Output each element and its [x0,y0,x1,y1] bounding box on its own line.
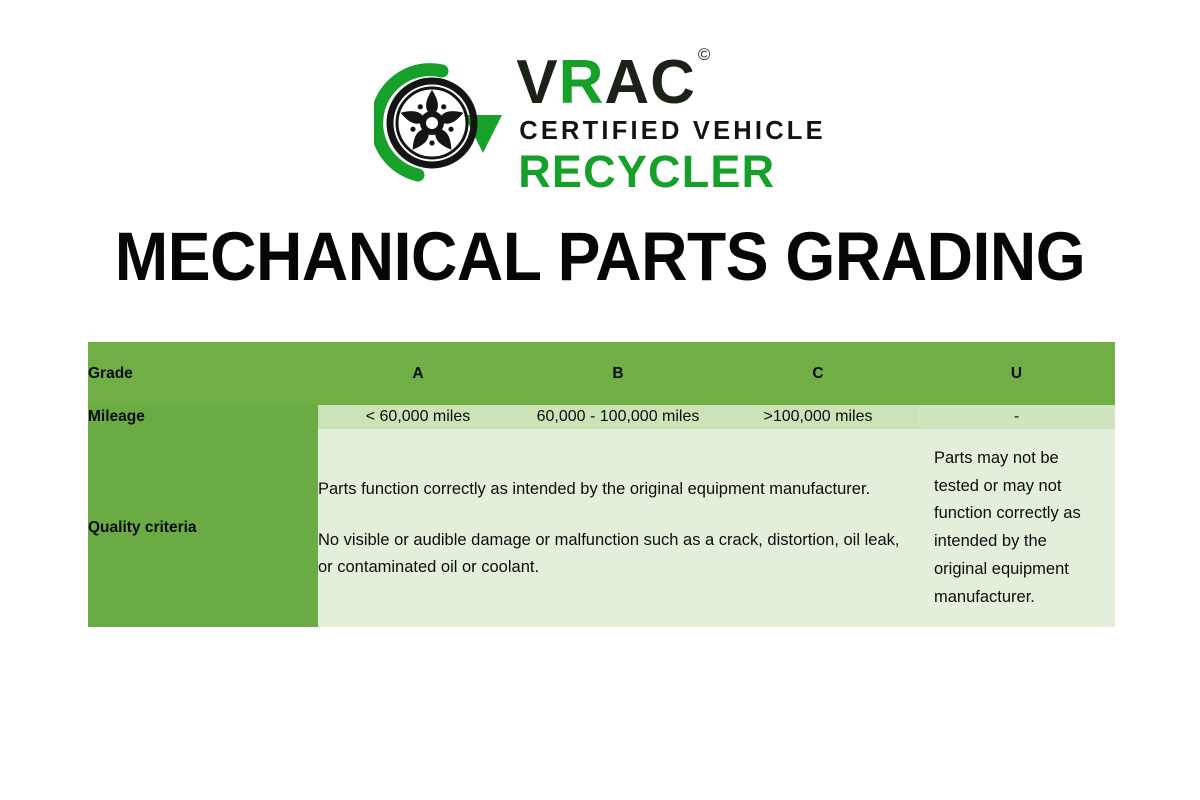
quality-paragraph-2: No visible or audible damage or malfunct… [318,527,918,580]
cell-mileage-a: < 60,000 miles [318,405,518,429]
brand-logo: VRAC© CERTIFIED VEHICLE RECYCLER [0,48,1200,198]
logo-letters-ac: AC [604,48,696,117]
logo-letter-r: R [559,48,605,117]
header-grade-u: U [918,342,1115,405]
row-label-mileage: Mileage [88,405,318,429]
row-label-quality-criteria: Quality criteria [88,429,318,627]
cell-mileage-c: >100,000 miles [718,405,918,429]
cell-quality-abc: Parts function correctly as intended by … [318,429,918,627]
header-grade-b: B [518,342,718,405]
mechanical-parts-grading-table: Grade A B C U Mileage < 60,000 miles 60,… [88,342,1115,627]
copyright-icon: © [698,45,712,64]
logo-tagline: CERTIFIED VEHICLE [519,119,826,145]
logo-inner: VRAC© CERTIFIED VEHICLE RECYCLER [374,52,826,193]
page-title: MECHANICAL PARTS GRADING [42,222,1158,291]
cell-mileage-u: - [918,405,1115,429]
wheel-recycling-icon [374,57,510,189]
logo-brand-secondary: RECYCLER [518,149,826,194]
header-grade: Grade [88,342,318,405]
table-row-mileage: Mileage < 60,000 miles 60,000 - 100,000 … [88,405,1115,429]
cell-quality-u: Parts may not be tested or may not funct… [918,429,1115,627]
header-grade-a: A [318,342,518,405]
cell-mileage-b: 60,000 - 100,000 miles [518,405,718,429]
logo-letter-v: V [516,48,558,117]
logo-brand-primary: VRAC© [516,54,826,113]
logo-wordmark: VRAC© CERTIFIED VEHICLE RECYCLER [516,52,826,193]
header-grade-c: C [718,342,918,405]
table-row-quality-criteria: Quality criteria Parts function correctl… [88,429,1115,627]
table-header-row: Grade A B C U [88,342,1115,405]
quality-paragraph-1: Parts function correctly as intended by … [318,476,918,503]
